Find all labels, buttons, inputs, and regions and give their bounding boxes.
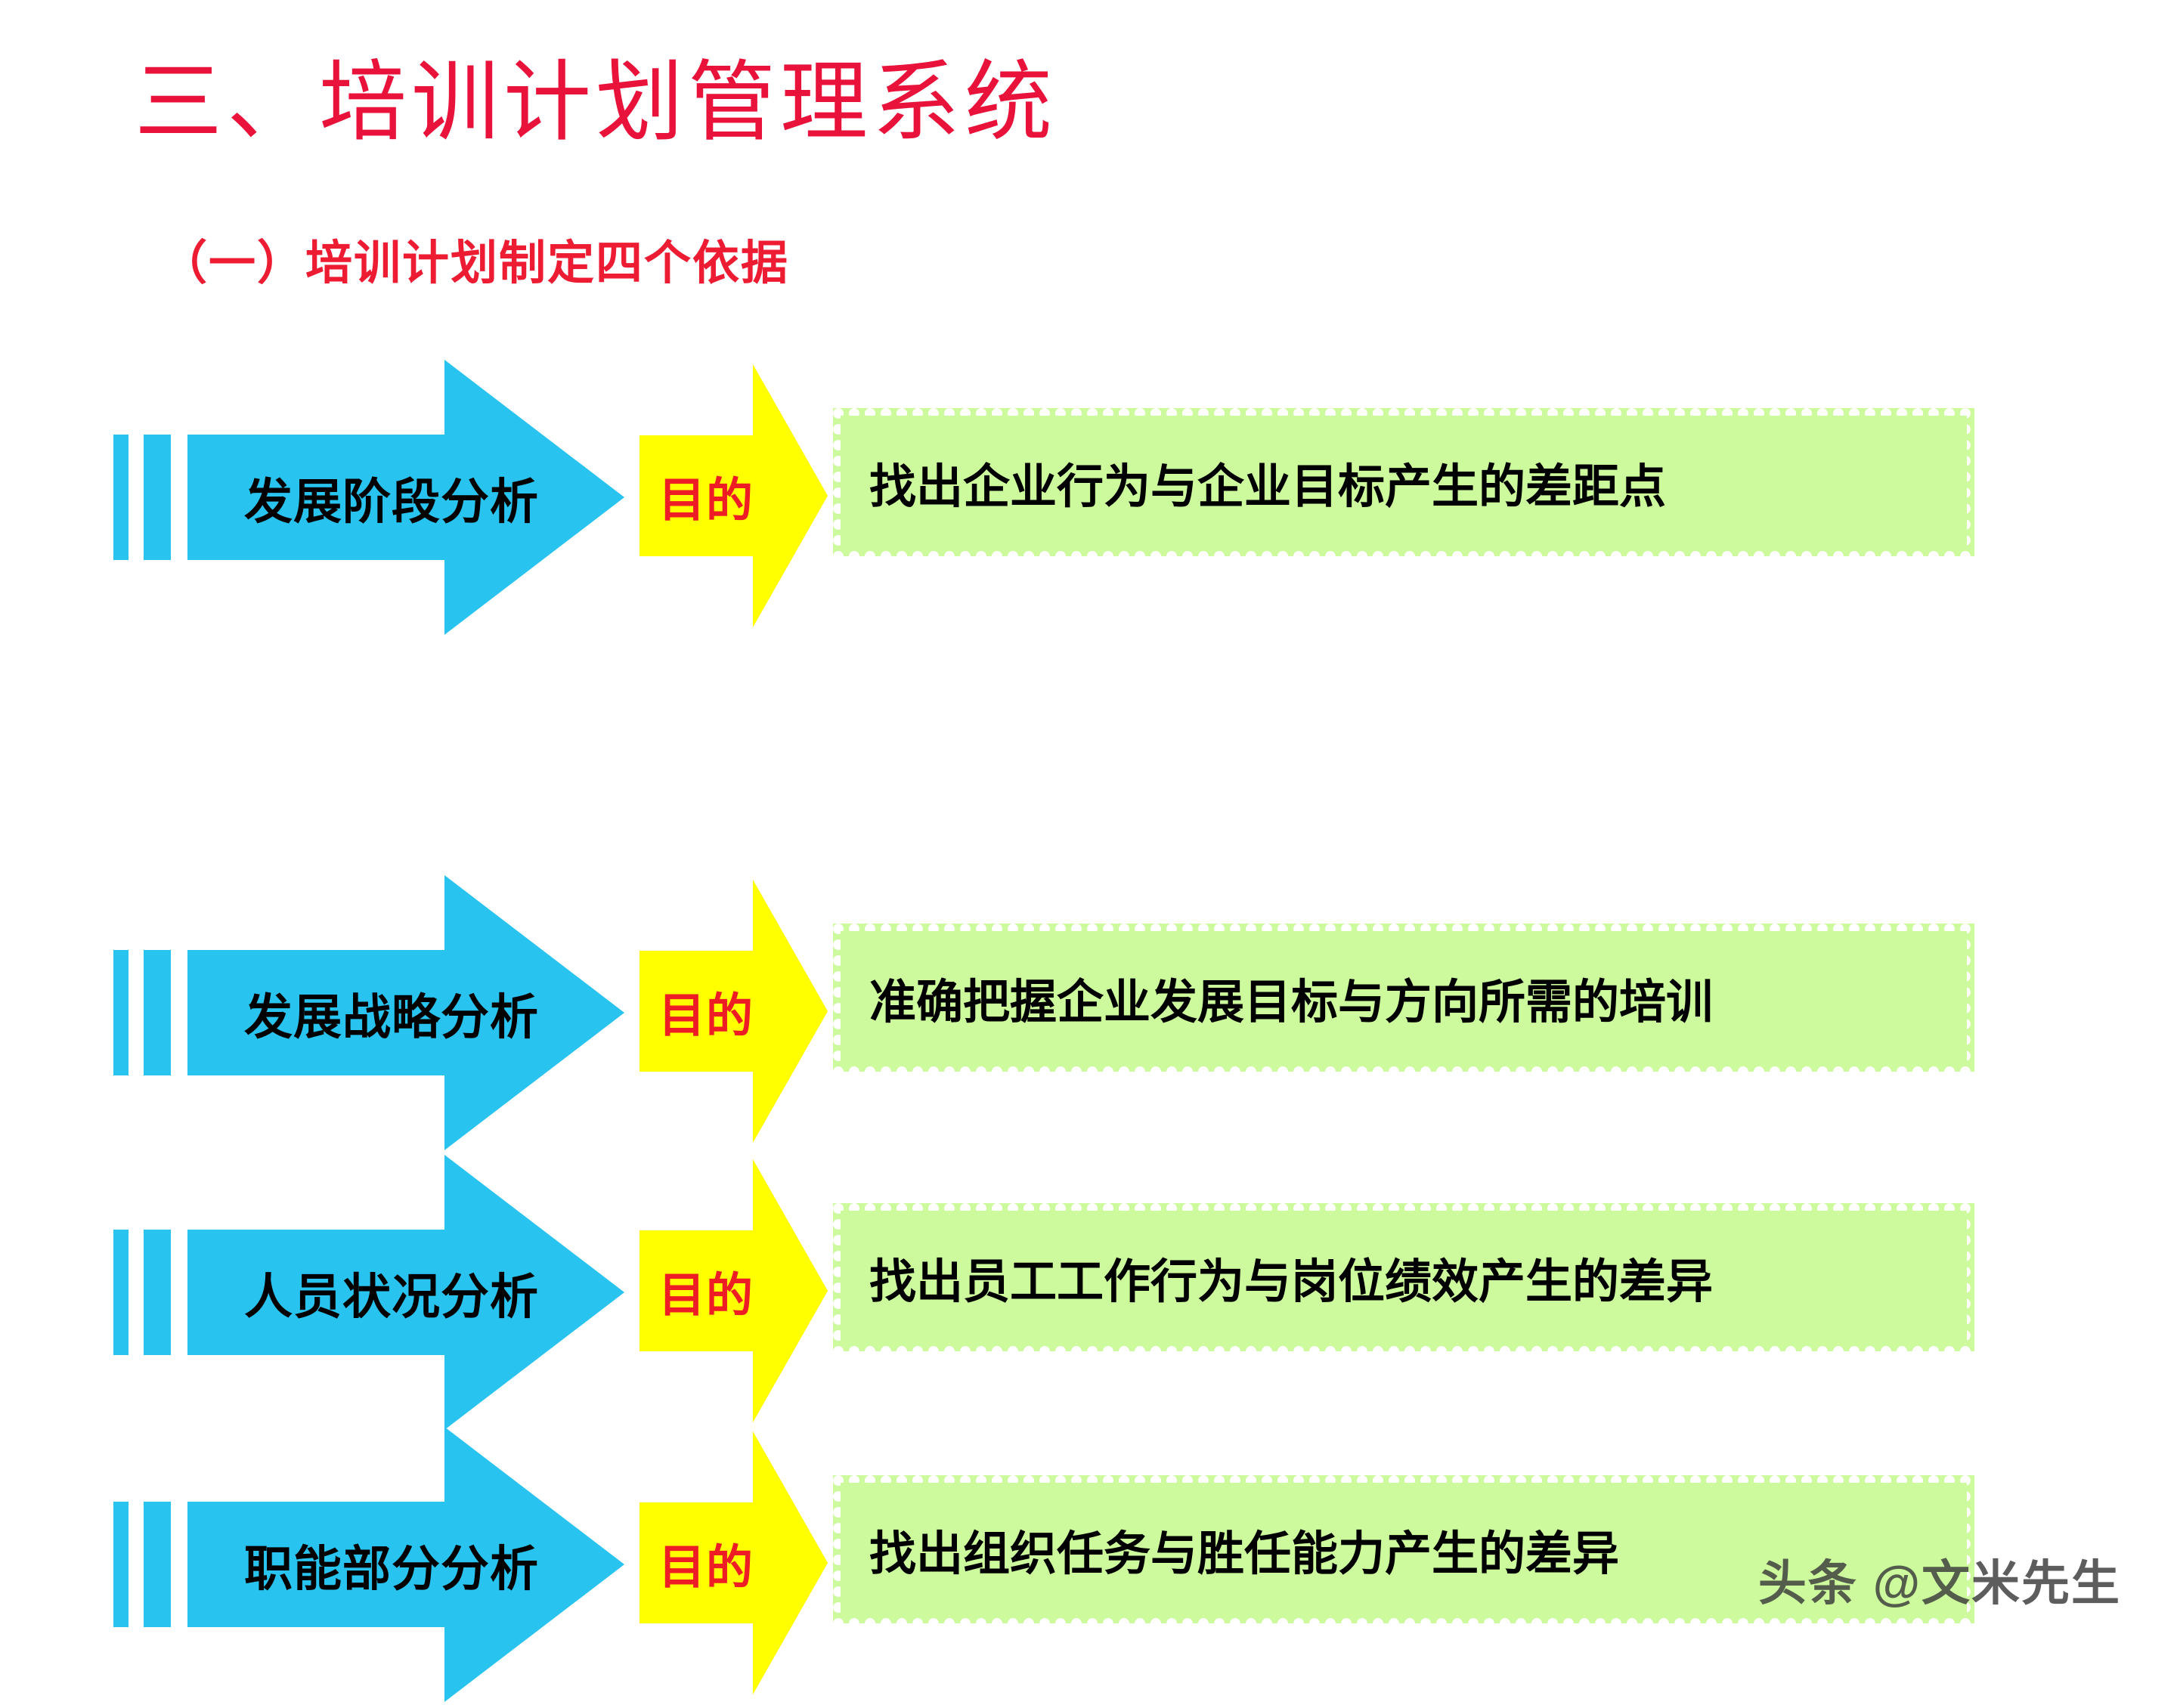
- purpose-arrow-label: 目的: [639, 435, 773, 556]
- purpose-arrow-label: 目的: [639, 1230, 773, 1351]
- accent-bar-thin: [113, 1230, 129, 1355]
- result-box-text: 找出员工工作行为与岗位绩效产生的差异: [869, 1203, 1952, 1351]
- flow-row: 发展战略分析 目的 准确把握企业发展目标与方向所需的培训: [0, 869, 2177, 1156]
- accent-bar-thin: [113, 435, 129, 560]
- section-subtitle: （一）培训计划制定四个依据: [160, 240, 789, 287]
- flow-row: 发展阶段分析 目的 找出企业行为与企业目标产生的差距点: [0, 354, 2177, 641]
- source-arrow[interactable]: 人员状况分析: [187, 1149, 626, 1436]
- source-arrow[interactable]: 发展阶段分析: [187, 354, 626, 641]
- result-box[interactable]: 准确把握企业发展目标与方向所需的培训: [833, 924, 1974, 1072]
- purpose-arrow[interactable]: 目的: [639, 1430, 828, 1696]
- accent-bar-thick: [144, 435, 171, 560]
- source-arrow-label: 发展战略分析: [218, 951, 565, 1075]
- source-arrow-label: 人员状况分析: [218, 1230, 565, 1355]
- accent-bar-thick: [144, 1230, 171, 1355]
- purpose-arrow-label: 目的: [639, 951, 773, 1072]
- source-arrow[interactable]: 职能部分分析: [187, 1421, 626, 1708]
- purpose-arrow[interactable]: 目的: [639, 363, 828, 629]
- purpose-arrow[interactable]: 目的: [639, 878, 828, 1144]
- source-arrow-label: 职能部分分析: [218, 1502, 565, 1627]
- accent-bar-thick: [144, 950, 171, 1075]
- purpose-arrow-label: 目的: [639, 1502, 773, 1623]
- watermark-text: 头条 @文米先生: [1758, 1545, 2121, 1614]
- result-box-text: 找出企业行为与企业目标产生的差距点: [869, 408, 1952, 556]
- flow-row: 人员状况分析 目的 找出员工工作行为与岗位绩效产生的差异: [0, 1149, 2177, 1436]
- result-box[interactable]: 找出企业行为与企业目标产生的差距点: [833, 408, 1974, 556]
- accent-bar-thick: [144, 1502, 171, 1627]
- accent-bar-thin: [113, 1502, 129, 1627]
- result-box[interactable]: 找出员工工作行为与岗位绩效产生的差异: [833, 1203, 1974, 1351]
- page-title: 三、培训计划管理系统: [135, 59, 1057, 147]
- result-box-text: 准确把握企业发展目标与方向所需的培训: [869, 924, 1952, 1072]
- slide-canvas: 三、培训计划管理系统 （一）培训计划制定四个依据 发展阶段分析 目的 找出企业行…: [0, 0, 2177, 1632]
- source-arrow-label: 发展阶段分析: [218, 435, 565, 560]
- accent-bar-thin: [113, 950, 129, 1075]
- source-arrow[interactable]: 发展战略分析: [187, 869, 626, 1156]
- purpose-arrow[interactable]: 目的: [639, 1158, 828, 1424]
